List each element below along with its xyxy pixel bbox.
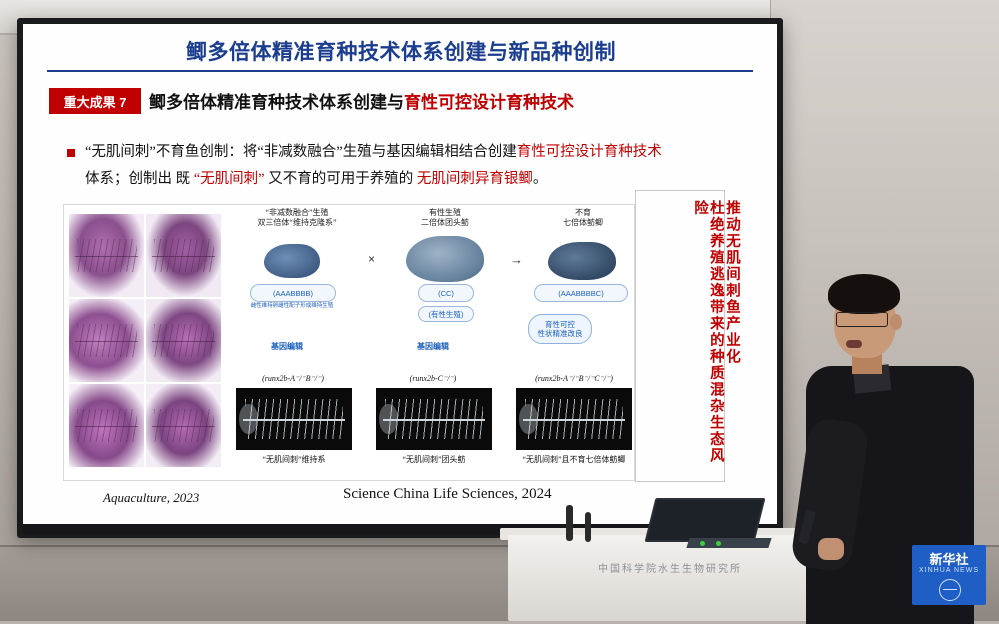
arrow-symbol: →: [510, 252, 523, 267]
xray-comparison-row: (runx2b-A⁻/⁻B⁻/⁻) (runx2b-C⁻/⁻) (runx2b-…: [228, 374, 633, 479]
laptop-screen: [647, 500, 763, 540]
xray-image: [516, 388, 632, 450]
specimen-photo: [69, 299, 144, 382]
diagram-column-header: “非减数融合”生殖 双三倍体“维持克隆系”: [242, 208, 352, 228]
podium: [508, 535, 838, 621]
podium-front-text: 中国科学院水生生物研究所: [520, 560, 820, 575]
citation-left: Aquaculture, 2023: [103, 490, 199, 506]
display-screen: 鲫多倍体精准育种技术体系创建与新品种创制 重大成果 7 鲫多倍体精准育种技术体系…: [17, 18, 783, 538]
xray-caption: “无肌间刺”且不育七倍体鲂鲫: [504, 454, 644, 465]
bullet1-part-2: 育性可控设计育种技术: [517, 144, 662, 160]
slide-title: 鲫多倍体精准育种技术体系创建与新品种创制: [41, 36, 761, 66]
citation-center: Science China Life Sciences, 2024: [343, 486, 552, 503]
specimen-photo-grid: [69, 214, 221, 467]
achievement-badge: 重大成果 7: [49, 88, 141, 114]
slide-subtitle: 鲫多倍体精准育种技术体系创建与育性可控设计育种技术: [149, 88, 574, 113]
vertical-statement-1: 杜绝养殖逃逸带来的种质混杂生态风险: [691, 200, 723, 470]
status-led-icon: [700, 541, 705, 546]
genotype-label: (AAABBBBC): [534, 284, 628, 302]
watermark-cn-text: 新华社: [912, 549, 986, 568]
specimen-photo: [146, 214, 221, 297]
xray-caption: “无肌间刺”维持系: [230, 454, 358, 465]
specimen-photo: [69, 214, 144, 297]
presenter-ear: [890, 314, 902, 330]
xray-image: [376, 388, 492, 450]
globe-icon: [939, 579, 961, 601]
status-led-icon: [716, 541, 721, 546]
presenter-hand: [818, 538, 844, 560]
laptop[interactable]: [645, 498, 766, 542]
title-divider: [47, 70, 753, 72]
genotype-label: (CC): [418, 284, 474, 302]
xray-caption: “无肌间刺”团头鲂: [370, 454, 498, 465]
display-panel: 鲫多倍体精准育种技术体系创建与新品种创制 重大成果 7 鲫多倍体精准育种技术体系…: [23, 24, 777, 524]
fish-illustration-bluntsnout-bream: [406, 236, 484, 282]
presenter-hair: [828, 274, 900, 314]
xray-image: [236, 388, 352, 450]
specimen-photo: [146, 384, 221, 467]
bullet-marker: [67, 149, 75, 157]
fish-illustration-maintenance-line: [264, 244, 320, 278]
diagram-note: (有性生殖): [418, 306, 474, 322]
vertical-statement-2: 推动无肌间刺鱼产业化: [723, 200, 739, 430]
diagram-note: 雌性维持卵雌性配子形成维持生殖: [248, 303, 336, 310]
xray-genotype-label: (runx2b-A⁻/⁻B⁻/⁻): [234, 374, 352, 383]
specimen-photo: [146, 299, 221, 382]
subtitle-part-1: 鲫多倍体精准育种技术体系创建与: [149, 93, 404, 112]
fish-illustration-heptaploid: [548, 242, 616, 280]
diagram-column-header: 不育 七倍体鲂鲫: [528, 208, 638, 228]
microphone[interactable]: [585, 512, 591, 542]
bullet2-part-3: 又不育的可用于养殖的: [265, 171, 417, 187]
subtitle-part-2: 育性可控设计育种技术: [404, 93, 574, 112]
presenter-mouth: [846, 340, 862, 348]
watermark-en-text: XINHUA NEWS: [912, 567, 986, 574]
bullet2-part-1: 体系；创制出 既: [85, 171, 194, 187]
presentation-slide: 鲫多倍体精准育种技术体系创建与新品种创制 重大成果 7 鲫多倍体精准育种技术体系…: [23, 24, 777, 524]
bullet2-part-5: 。: [533, 171, 548, 187]
specimen-photo: [69, 384, 144, 467]
gene-edit-label: 基因编辑: [398, 342, 468, 352]
bullet-line-1: “无肌间刺”不育鱼创制：将“非减数融合”生殖与基因编辑相结合创建育性可控设计育种…: [85, 140, 662, 161]
microphone[interactable]: [566, 505, 573, 541]
cross-symbol: ×: [368, 252, 375, 266]
diagram-column-header: 有性生殖 二倍体团头鲂: [386, 208, 504, 228]
bullet-line-2: 体系；创制出 既 “无肌间刺” 又不育的可用于养殖的 无肌间刺异育银鲫。: [85, 167, 547, 188]
watermark-logo: 新华社 XINHUA NEWS: [912, 545, 986, 605]
breeding-diagram: “非减数融合”生殖 双三倍体“维持克隆系” 有性生殖 二倍体团头鲂 不育 七倍体…: [228, 210, 633, 370]
glasses-icon: [836, 312, 888, 327]
bullet2-part-4: 无肌间刺异育银鲫: [417, 171, 533, 187]
diagram-callout: 育性可控 性状精准改良: [528, 314, 592, 344]
bullet2-part-2: “无肌间刺”: [194, 171, 265, 187]
xray-genotype-label: (runx2b-A⁻/⁻B⁻/⁻C⁻/⁻): [512, 374, 636, 383]
gene-edit-label: 基因编辑: [252, 342, 322, 352]
bullet1-part-1: “无肌间刺”不育鱼创制：将“非减数融合”生殖与基因编辑相结合创建: [85, 144, 517, 160]
xray-genotype-label: (runx2b-C⁻/⁻): [374, 374, 492, 383]
genotype-label: (AAABBBB): [250, 284, 336, 302]
